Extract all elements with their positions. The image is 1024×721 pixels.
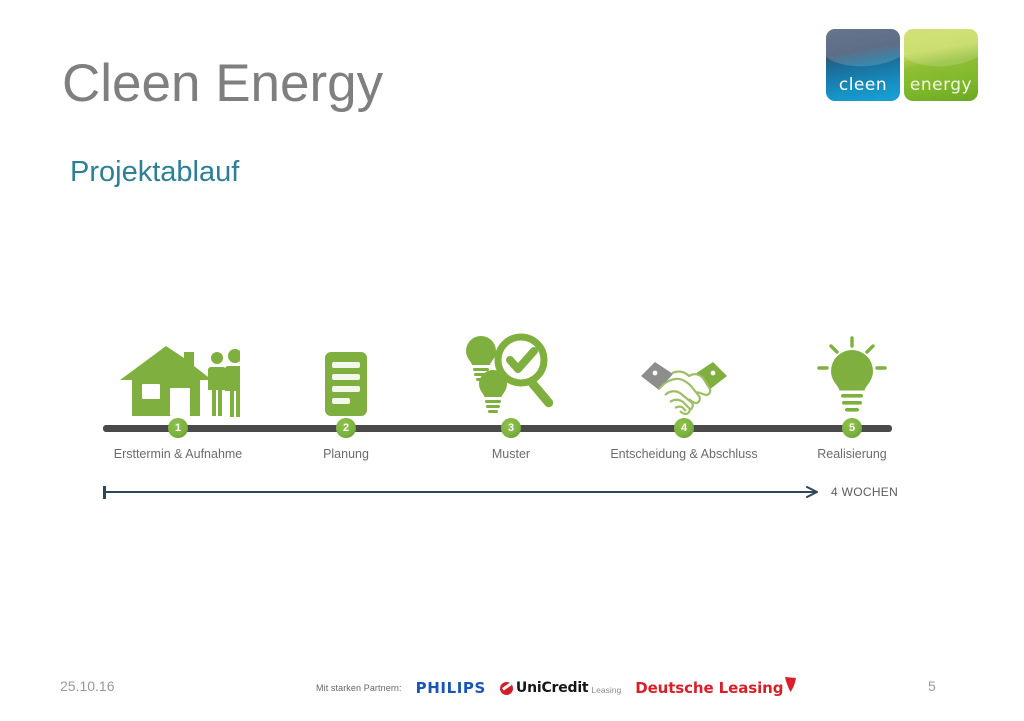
shining-lightbulb-icon — [762, 320, 942, 420]
logo-sheen — [904, 29, 978, 70]
timeline-label-4: Entscheidung & Abschluss — [594, 447, 774, 461]
timeline-step-5[interactable]: 5 Realisierung — [762, 320, 942, 420]
deutsche-leasing-name: Deutsche Leasing — [635, 679, 783, 697]
unicredit-name: UniCredit — [516, 680, 589, 696]
partner-logos: Mit starken Partnern: PHILIPS UniCredit … — [316, 679, 797, 697]
logo-tile-energy: energy — [904, 29, 978, 101]
logo-word-energy: energy — [904, 77, 978, 94]
duration-label: 4 WOCHEN — [831, 485, 898, 499]
timeline-label-3: Muster — [421, 447, 601, 461]
timeline-marker-2[interactable]: 2 — [336, 418, 356, 438]
logo-tile-cleen: cleen — [826, 29, 900, 101]
document-icon — [256, 320, 436, 420]
timeline-bar — [103, 425, 892, 432]
timeline-label-5: Realisierung — [762, 447, 942, 461]
footer-date: 25.10.16 — [60, 678, 115, 694]
duration-line — [105, 491, 815, 493]
philips-logo: PHILIPS — [416, 679, 486, 697]
unicredit-mark-icon — [500, 682, 513, 695]
timeline-label-2: Planung — [256, 447, 436, 461]
arrow-right-icon — [806, 486, 819, 499]
deutsche-leasing-flag-icon — [784, 676, 797, 693]
timeline-step-1[interactable]: 1 Ersttermin & Aufnahme — [88, 320, 268, 420]
bulbs-magnifier-check-icon — [421, 320, 601, 420]
duration-indicator: 4 WOCHEN — [103, 486, 893, 508]
timeline-label-1: Ersttermin & Aufnahme — [88, 447, 268, 461]
logo-word-cleen: cleen — [826, 77, 900, 94]
unicredit-leasing-suffix: Leasing — [591, 685, 621, 696]
company-logo: cleen energy — [826, 29, 978, 101]
timeline-marker-4[interactable]: 4 — [674, 418, 694, 438]
timeline-step-4[interactable]: 4 Entscheidung & Abschluss — [594, 320, 774, 420]
timeline-marker-5[interactable]: 5 — [842, 418, 862, 438]
page-subtitle: Projektablauf — [70, 158, 239, 187]
handshake-icon — [594, 320, 774, 420]
partners-intro-label: Mit starken Partnern: — [316, 683, 402, 693]
timeline-step-3[interactable]: 3 Muster — [421, 320, 601, 420]
unicredit-leasing-logo: UniCredit Leasing — [500, 680, 621, 696]
timeline-marker-1[interactable]: 1 — [168, 418, 188, 438]
house-with-people-icon — [88, 320, 268, 420]
page-title: Cleen Energy — [62, 57, 383, 110]
timeline-marker-3[interactable]: 3 — [501, 418, 521, 438]
footer-page-number: 5 — [928, 678, 936, 694]
logo-sheen — [826, 29, 900, 70]
deutsche-leasing-logo: Deutsche Leasing — [635, 679, 797, 697]
timeline-step-2[interactable]: 2 Planung — [256, 320, 436, 420]
